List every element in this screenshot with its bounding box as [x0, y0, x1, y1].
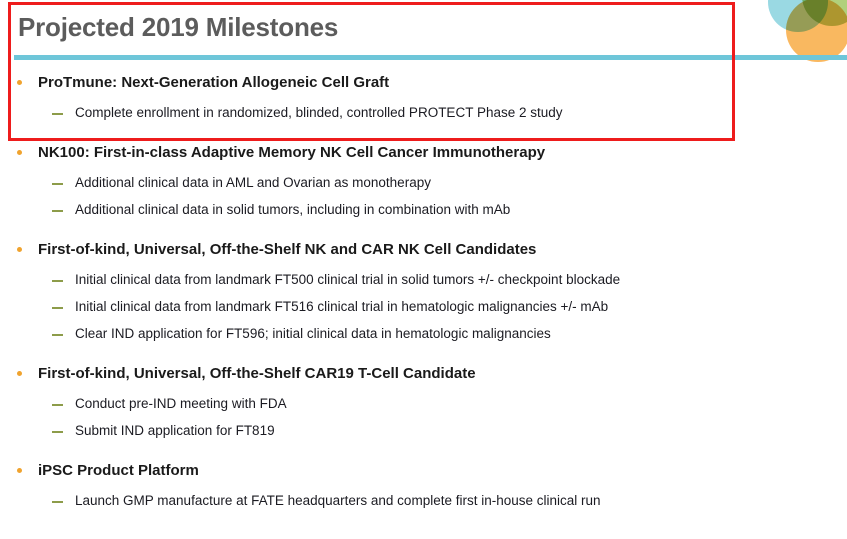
spacer [0, 315, 847, 326]
bullet-dot-icon [17, 80, 22, 85]
bullet-dot-icon [17, 371, 22, 376]
list-item: Clear IND application for FT596; initial… [0, 326, 847, 342]
list-item: Submit IND application for FT819 [0, 423, 847, 439]
spacer [0, 161, 847, 175]
dash-bullet-icon [52, 210, 63, 212]
milestone-section: ProTmune: Next-Generation Allogeneic Cel… [0, 74, 847, 121]
circle-orange-icon [786, 0, 847, 62]
list-item: Additional clinical data in AML and Ovar… [0, 175, 847, 191]
list-item: Initial clinical data from landmark FT50… [0, 272, 847, 288]
section-heading: iPSC Product Platform [0, 462, 847, 479]
bullet-dot-icon [17, 150, 22, 155]
dash-bullet-icon [52, 334, 63, 336]
section-heading: First-of-kind, Universal, Off-the-Shelf … [0, 241, 847, 258]
list-item-label: Conduct pre-IND meeting with FDA [75, 396, 287, 411]
spacer [0, 121, 847, 144]
dash-bullet-icon [52, 404, 63, 406]
milestone-section: First-of-kind, Universal, Off-the-Shelf … [0, 241, 847, 342]
milestones-list: ProTmune: Next-Generation Allogeneic Cel… [0, 74, 847, 509]
list-item-label: Initial clinical data from landmark FT51… [75, 299, 608, 314]
section-heading: ProTmune: Next-Generation Allogeneic Cel… [0, 74, 847, 91]
section-heading: NK100: First-in-class Adaptive Memory NK… [0, 144, 847, 161]
dash-bullet-icon [52, 113, 63, 115]
section-heading-label: ProTmune: Next-Generation Allogeneic Cel… [38, 74, 389, 91]
spacer [0, 218, 847, 241]
list-item: Conduct pre-IND meeting with FDA [0, 396, 847, 412]
spacer [0, 91, 847, 105]
list-item-label: Initial clinical data from landmark FT50… [75, 272, 620, 287]
list-item: Additional clinical data in solid tumors… [0, 202, 847, 218]
bullet-dot-icon [17, 247, 22, 252]
section-heading-label: First-of-kind, Universal, Off-the-Shelf … [38, 241, 536, 258]
spacer [0, 479, 847, 493]
list-item-label: Complete enrollment in randomized, blind… [75, 105, 563, 120]
spacer [0, 412, 847, 423]
section-heading: First-of-kind, Universal, Off-the-Shelf … [0, 365, 847, 382]
slide-canvas: Projected 2019 Milestones ProTmune: Next… [0, 0, 847, 539]
section-heading-label: NK100: First-in-class Adaptive Memory NK… [38, 144, 545, 161]
spacer [0, 258, 847, 272]
dash-bullet-icon [52, 501, 63, 503]
dash-bullet-icon [52, 431, 63, 433]
spacer [0, 191, 847, 202]
spacer [0, 288, 847, 299]
spacer [0, 439, 847, 462]
section-heading-label: First-of-kind, Universal, Off-the-Shelf … [38, 365, 476, 382]
title-divider-rule [14, 55, 847, 60]
dash-bullet-icon [52, 183, 63, 185]
list-item-label: Submit IND application for FT819 [75, 423, 275, 438]
page-title: Projected 2019 Milestones [18, 12, 338, 43]
list-item: Initial clinical data from landmark FT51… [0, 299, 847, 315]
dash-bullet-icon [52, 307, 63, 309]
bullet-dot-icon [17, 468, 22, 473]
list-item-label: Additional clinical data in AML and Ovar… [75, 175, 431, 190]
milestone-section: First-of-kind, Universal, Off-the-Shelf … [0, 365, 847, 439]
list-item-label: Clear IND application for FT596; initial… [75, 326, 551, 341]
milestone-section: iPSC Product PlatformLaunch GMP manufact… [0, 462, 847, 509]
list-item-label: Launch GMP manufacture at FATE headquart… [75, 493, 601, 508]
spacer [0, 342, 847, 365]
list-item: Launch GMP manufacture at FATE headquart… [0, 493, 847, 509]
milestone-section: NK100: First-in-class Adaptive Memory NK… [0, 144, 847, 218]
spacer [0, 382, 847, 396]
list-item: Complete enrollment in randomized, blind… [0, 105, 847, 121]
list-item-label: Additional clinical data in solid tumors… [75, 202, 510, 217]
dash-bullet-icon [52, 280, 63, 282]
section-heading-label: iPSC Product Platform [38, 462, 199, 479]
circle-green-icon [802, 0, 847, 26]
circle-blue-icon [768, 0, 828, 32]
